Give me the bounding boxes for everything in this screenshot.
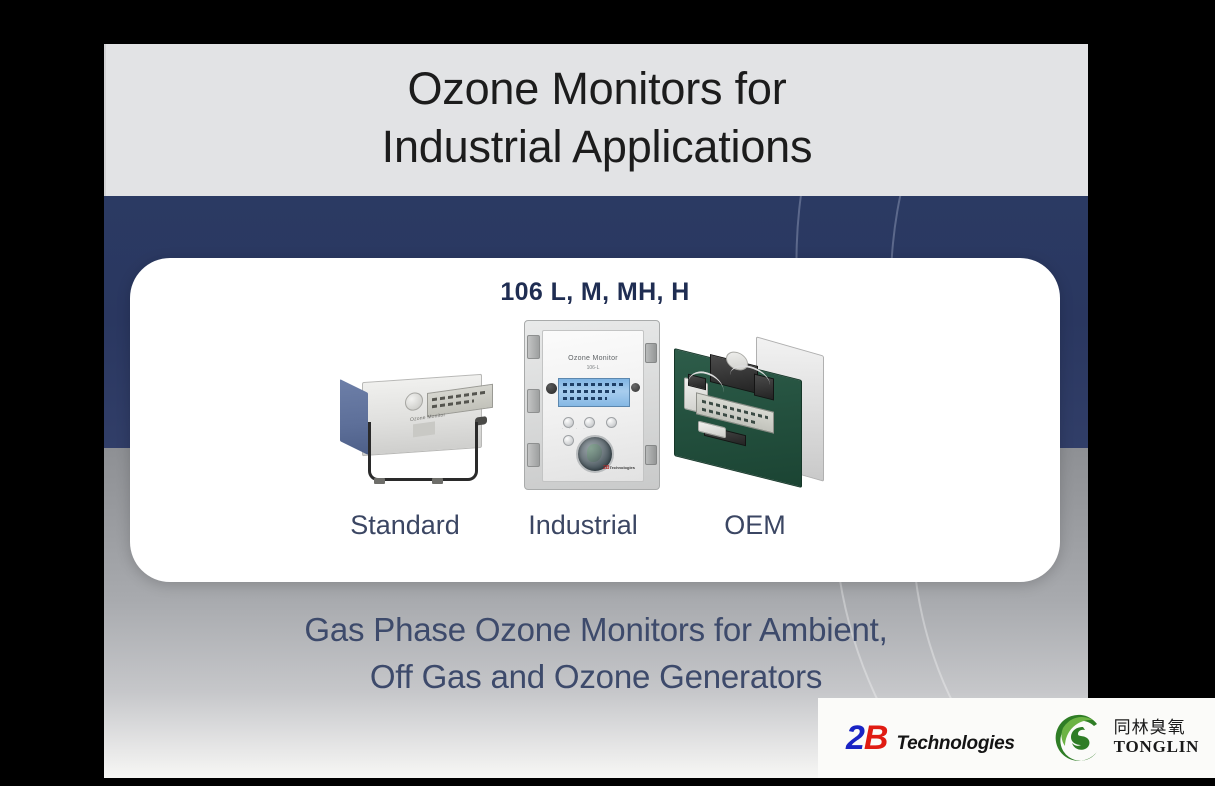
display-line xyxy=(432,391,486,402)
logo-2b-digit: 2 xyxy=(846,719,864,758)
benchtop-foot xyxy=(432,478,443,484)
product-card: 106 L, M, MH, H Ozone Monitor xyxy=(130,258,1060,582)
slide-title: Ozone Monitors for Industrial Applicatio… xyxy=(106,60,1088,176)
display-line xyxy=(432,399,474,408)
slide-caption: Gas Phase Ozone Monitors for Ambient, Of… xyxy=(104,606,1088,700)
product-image-oem xyxy=(670,346,828,492)
panel-button xyxy=(563,435,574,446)
product-images-row: Ozone Monitor xyxy=(340,320,860,500)
enclosure-body: Ozone Monitor 106-L xyxy=(524,320,660,490)
benchtop-side-panel xyxy=(340,379,368,455)
logo-2b-technologies: 2 B Technologies xyxy=(846,719,1015,758)
tonglin-wordmark: 同林臭氧 TONGLIN xyxy=(1114,720,1200,756)
panel-brand-tech: Technologies xyxy=(610,465,635,470)
logo-2b-letter: B xyxy=(864,719,888,758)
caption-line-2: Off Gas and Ozone Generators xyxy=(104,653,1088,700)
panel-lcd-display xyxy=(558,378,630,407)
enclosure-front-panel: Ozone Monitor 106-L xyxy=(542,330,644,482)
enclosure-latch xyxy=(645,343,657,363)
caption-line-1: Gas Phase Ozone Monitors for Ambient, xyxy=(104,606,1088,653)
logo-bar: 2 B Technologies 同林臭氧 TONGLIN xyxy=(818,698,1215,778)
category-label-standard: Standard xyxy=(310,510,500,541)
panel-indicator-left xyxy=(546,383,557,394)
product-image-industrial: Ozone Monitor 106-L xyxy=(516,320,666,492)
category-label-oem: OEM xyxy=(660,510,850,541)
benchtop-foot xyxy=(374,478,385,484)
panel-button-captions: · · · · xyxy=(562,427,628,431)
tonglin-english: TONGLIN xyxy=(1114,738,1200,756)
lcd-line xyxy=(563,397,607,400)
title-line-1: Ozone Monitors for xyxy=(106,60,1088,118)
enclosure-hinge xyxy=(527,335,540,359)
tonglin-swirl-icon xyxy=(1053,712,1105,764)
enclosure-hinge xyxy=(527,443,540,467)
benchtop-wire-stand xyxy=(368,422,478,481)
panel-brand-logo: 2BTechnologies xyxy=(603,465,635,471)
lcd-line xyxy=(563,383,625,386)
slide-title-band: Ozone Monitors for Industrial Applicatio… xyxy=(104,44,1088,196)
tonglin-chinese: 同林臭氧 xyxy=(1114,720,1200,738)
model-heading: 106 L, M, MH, H xyxy=(130,278,1060,307)
letterbox-bottom-bar xyxy=(0,778,1215,786)
category-label-industrial: Industrial xyxy=(488,510,678,541)
logo-2b-word: Technologies xyxy=(896,733,1014,755)
panel-title: Ozone Monitor xyxy=(543,355,643,362)
panel-model: 106-L xyxy=(543,365,643,371)
logo-tonglin: 同林臭氧 TONGLIN xyxy=(1053,712,1200,764)
benchtop-knob xyxy=(405,391,423,412)
screenshot-stage: Ozone Monitors for Industrial Applicatio… xyxy=(0,0,1215,786)
panel-indicator-right xyxy=(631,383,640,392)
title-line-2: Industrial Applications xyxy=(106,118,1088,176)
product-image-standard: Ozone Monitor xyxy=(340,376,492,492)
lcd-line xyxy=(563,390,615,393)
presentation-slide: Ozone Monitors for Industrial Applicatio… xyxy=(104,44,1088,778)
enclosure-hinge xyxy=(527,389,540,413)
category-labels-row: Standard Industrial OEM xyxy=(130,510,1060,550)
benchtop-display xyxy=(427,384,493,417)
enclosure-latch xyxy=(645,445,657,465)
